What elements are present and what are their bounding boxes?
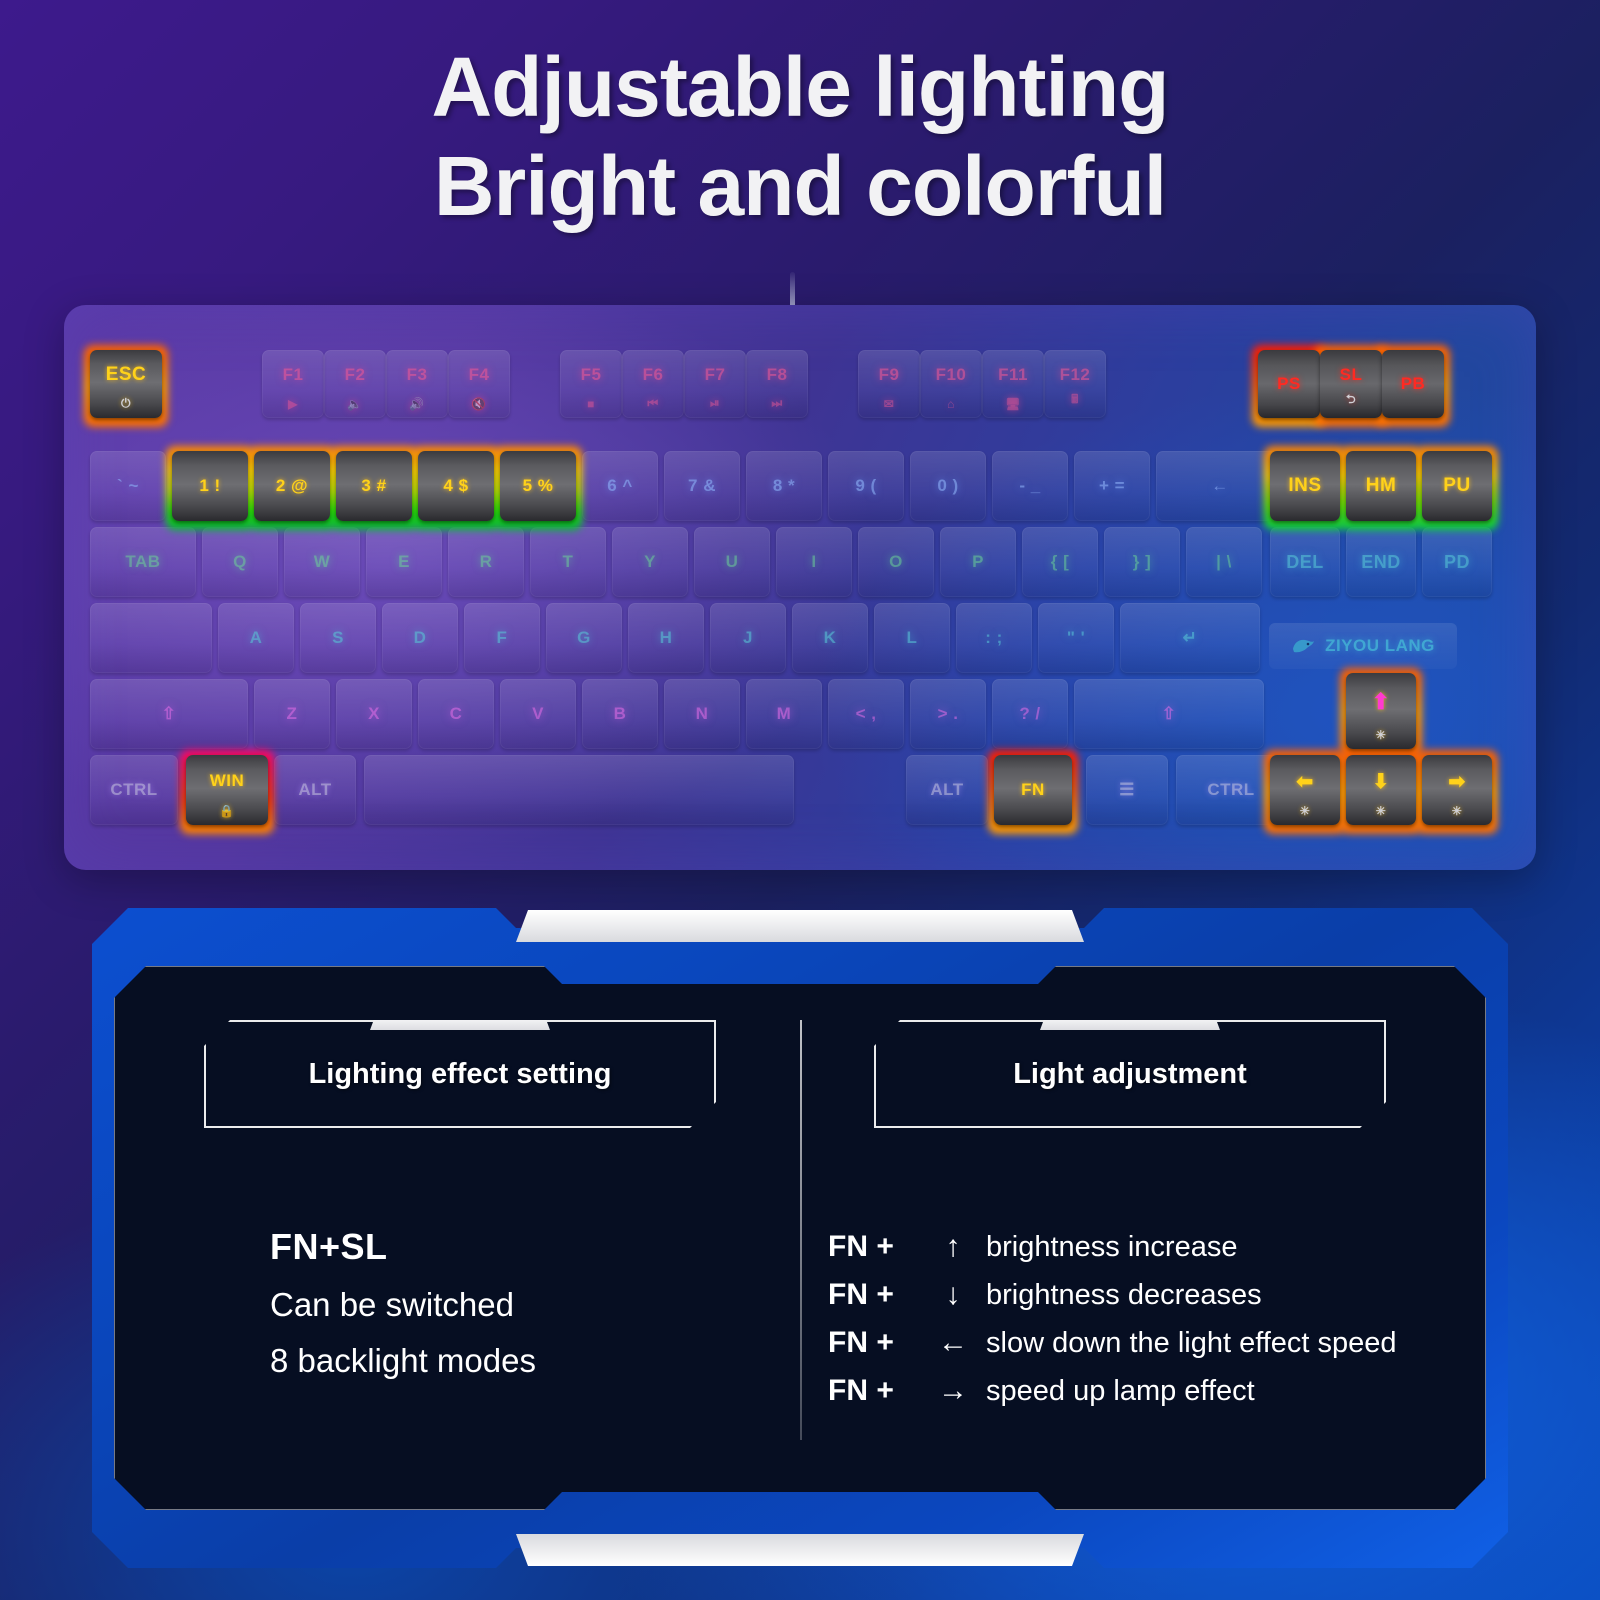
key-i[interactable]: I <box>776 527 852 597</box>
key-sl[interactable]: SL⮌ <box>1320 350 1382 418</box>
key-label: < , <box>856 704 877 724</box>
key-[interactable] <box>90 603 212 673</box>
key-[interactable]: + = <box>1074 451 1150 521</box>
shortcut-description: slow down the light effect speed <box>986 1327 1397 1360</box>
key-label: 2 @ <box>276 476 308 496</box>
key-r[interactable]: R <box>448 527 524 597</box>
info-panel-top-tab <box>516 910 1084 942</box>
light-adjustment-header: Light adjustment <box>874 1020 1386 1128</box>
key-label: 6 ^ <box>607 476 633 496</box>
key-label: L <box>907 628 918 648</box>
key-[interactable]: } ] <box>1104 527 1180 597</box>
key-label: 0 ) <box>937 476 958 496</box>
calculator-icon: 🖩 <box>1071 390 1079 411</box>
key-v[interactable]: V <box>500 679 576 749</box>
key-2[interactable]: 2 @ <box>254 451 330 521</box>
key-[interactable]: ` ~ <box>90 451 166 521</box>
key-label: F5 <box>581 365 602 385</box>
key-j[interactable]: J <box>710 603 786 673</box>
key-label: TAB <box>125 552 160 572</box>
page-title: Adjustable lighting Bright and colorful <box>0 42 1600 231</box>
key-[interactable] <box>364 755 794 825</box>
key-label: R <box>480 552 493 572</box>
menu-icon[interactable]: ☰ <box>1086 755 1168 825</box>
key-label: 9 ( <box>855 476 876 496</box>
lighting-effect-line-2: 8 backlight modes <box>270 1342 790 1380</box>
shortcut-row: FN +→speed up lamp effect <box>828 1374 1478 1408</box>
key-n[interactable]: N <box>664 679 740 749</box>
key-label: F8 <box>767 365 788 385</box>
brightness-icon: ✳ <box>1376 728 1387 742</box>
key-label: + = <box>1099 476 1125 496</box>
key-label: FN <box>1021 780 1045 800</box>
key-label: DEL <box>1286 552 1324 573</box>
key-label: C <box>450 704 463 724</box>
mute-icon: 🔇 <box>471 397 486 411</box>
key-label: - _ <box>1019 476 1040 496</box>
key-f7[interactable]: F7⏯ <box>684 350 746 418</box>
key-label: ` ~ <box>117 476 139 496</box>
key-label: ⬆ <box>1372 689 1391 715</box>
key-f6[interactable]: F6⏮ <box>622 350 684 418</box>
play-icon: ▶ <box>288 397 298 411</box>
key-label: J <box>743 628 753 648</box>
fn-sl-combo: FN+SL <box>270 1226 790 1268</box>
power-icon: ⏻ <box>121 396 131 411</box>
key-3[interactable]: 3 # <box>336 451 412 521</box>
key-label: K <box>824 628 837 648</box>
key-label: F3 <box>407 365 428 385</box>
key-p[interactable]: P <box>940 527 1016 597</box>
key-[interactable]: - _ <box>992 451 1068 521</box>
key-label: INS <box>1288 475 1321 497</box>
key-ps[interactable]: PS <box>1258 350 1320 418</box>
key-label: F4 <box>469 365 490 385</box>
key-label: X <box>368 704 380 724</box>
shortcut-row: FN +↑brightness increase <box>828 1230 1478 1264</box>
lighting-effect-setting-header: Lighting effect setting <box>204 1020 716 1128</box>
key-[interactable]: ⇧ <box>90 679 248 749</box>
lighting-effect-line-1: Can be switched <box>270 1286 790 1324</box>
key-label: F7 <box>705 365 726 385</box>
key-label: 3 # <box>361 476 386 496</box>
key-esc[interactable]: ESC⏻ <box>90 350 162 418</box>
light-adjustment-shortcut-list: FN +↑brightness increaseFN +↓brightness … <box>828 1230 1478 1422</box>
key-l[interactable]: L <box>874 603 950 673</box>
lock-icon: 🔒 <box>219 804 234 818</box>
key-label: ⇧ <box>162 704 177 724</box>
key-label: S <box>332 628 344 648</box>
shortcut-key: FN + <box>828 1230 920 1264</box>
key-label: CTRL <box>1207 780 1254 800</box>
shortcut-key: FN + <box>828 1326 920 1360</box>
scroll-lock-icon: ⮌ <box>1346 390 1356 411</box>
key-8[interactable]: 8 * <box>746 451 822 521</box>
shortcut-arrow-icon: ↓ <box>920 1278 986 1312</box>
key-label: F10 <box>936 365 967 385</box>
brightness-icon: ✳ <box>1452 804 1463 818</box>
right-arrow-icon[interactable]: ➡✳ <box>1422 755 1492 825</box>
key-win[interactable]: WIN🔒 <box>186 755 268 825</box>
key-label: Y <box>644 552 656 572</box>
key-label: F11 <box>998 365 1028 385</box>
key-[interactable]: : ; <box>956 603 1032 673</box>
lighting-effect-setting-title: Lighting effect setting <box>309 1058 612 1091</box>
key-t[interactable]: T <box>530 527 606 597</box>
key-del[interactable]: DEL <box>1270 527 1340 597</box>
shortcut-description: brightness increase <box>986 1231 1237 1264</box>
key-0[interactable]: 0 ) <box>910 451 986 521</box>
key-s[interactable]: S <box>300 603 376 673</box>
key-label: 4 $ <box>443 476 468 496</box>
home-icon: ⌂ <box>947 397 955 411</box>
brightness-icon: ✳ <box>1376 804 1387 818</box>
shortcut-arrow-icon: ← <box>920 1326 986 1360</box>
keyboard-cable <box>790 272 795 308</box>
key-k[interactable]: K <box>792 603 868 673</box>
key-label: B <box>614 704 627 724</box>
key-f2[interactable]: F2🔈 <box>324 350 386 418</box>
light-adjustment-title: Light adjustment <box>1013 1058 1247 1091</box>
volume-down-icon: 🔈 <box>347 397 362 411</box>
key-label: ALT <box>298 780 331 800</box>
lighting-effect-setting-body: FN+SL Can be switched 8 backlight modes <box>270 1226 790 1380</box>
key-label: 1 ! <box>199 476 220 496</box>
key-f5[interactable]: F5■ <box>560 350 622 418</box>
key-label: | \ <box>1216 552 1232 572</box>
key-label: F9 <box>879 365 900 385</box>
shortcut-arrow-icon: → <box>920 1374 986 1408</box>
key-label: 5 % <box>523 476 554 496</box>
key-7[interactable]: 7 & <box>664 451 740 521</box>
key-[interactable]: { [ <box>1022 527 1098 597</box>
key-z[interactable]: Z <box>254 679 330 749</box>
key-hm[interactable]: HM <box>1346 451 1416 521</box>
key-label: : ; <box>985 628 1003 648</box>
key-label: F2 <box>345 365 366 385</box>
key-label: ➡ <box>1448 769 1465 794</box>
key-label: PU <box>1443 475 1470 497</box>
key-[interactable]: ↵ <box>1120 603 1260 673</box>
key-6[interactable]: 6 ^ <box>582 451 658 521</box>
key-label: ALT <box>930 780 963 800</box>
key-[interactable]: " ' <box>1038 603 1114 673</box>
key-label: M <box>777 704 792 724</box>
key-label: H <box>660 628 673 648</box>
key-f10[interactable]: F10⌂ <box>920 350 982 418</box>
key-label: PS <box>1277 374 1301 394</box>
key-w[interactable]: W <box>284 527 360 597</box>
key-label: 8 * <box>773 476 795 496</box>
keyboard-image: ESC⏻F1▶F2🔈F3🔊F4🔇F5■F6⏮F7⏯F8⏭F9✉F10⌂F11🖥F… <box>64 305 1536 870</box>
key-h[interactable]: H <box>628 603 704 673</box>
key-[interactable]: ? / <box>992 679 1068 749</box>
key-label: G <box>577 628 591 648</box>
key-label: ⇧ <box>1162 704 1177 724</box>
brand-logo: ZIYOU LANG <box>1269 623 1457 669</box>
key-label: Z <box>287 704 298 724</box>
key-[interactable]: ⇧ <box>1074 679 1264 749</box>
previous-track-icon: ⏮ <box>647 396 658 411</box>
key-[interactable]: | \ <box>1186 527 1262 597</box>
key-label: ESC <box>106 364 147 386</box>
key-label: } ] <box>1133 552 1152 572</box>
key-[interactable]: > . <box>910 679 986 749</box>
key-pb[interactable]: PB <box>1382 350 1444 418</box>
key-tab[interactable]: TAB <box>90 527 196 597</box>
key-u[interactable]: U <box>694 527 770 597</box>
key-label: ? / <box>1019 704 1040 724</box>
key-f8[interactable]: F8⏭ <box>746 350 808 418</box>
key-f12[interactable]: F12🖩 <box>1044 350 1106 418</box>
key-label: F <box>497 628 508 648</box>
play-pause-icon: ⏯ <box>710 396 720 411</box>
key-[interactable]: < , <box>828 679 904 749</box>
key-label: WIN <box>210 771 245 791</box>
key-label: ← <box>1211 476 1229 496</box>
key-label: D <box>414 628 427 648</box>
info-panel-divider <box>800 1020 802 1440</box>
key-y[interactable]: Y <box>612 527 688 597</box>
brightness-icon: ✳ <box>1300 804 1311 818</box>
key-label: E <box>398 552 410 572</box>
down-arrow-icon[interactable]: ⬇✳ <box>1346 755 1416 825</box>
key-label: " ' <box>1067 628 1085 648</box>
key-label: { [ <box>1051 552 1070 572</box>
key-alt[interactable]: ALT <box>906 755 988 825</box>
key-o[interactable]: O <box>858 527 934 597</box>
key-fn[interactable]: FN <box>994 755 1072 825</box>
key-f4[interactable]: F4🔇 <box>448 350 510 418</box>
key-label: ⬇ <box>1372 769 1389 794</box>
key-label: P <box>972 552 984 572</box>
key-label: O <box>889 552 903 572</box>
key-label: PD <box>1444 552 1470 573</box>
shortcut-key: FN + <box>828 1374 920 1408</box>
left-arrow-icon[interactable]: ⬅✳ <box>1270 755 1340 825</box>
key-label: I <box>811 552 816 572</box>
key-label: PB <box>1401 374 1426 394</box>
key-c[interactable]: C <box>418 679 494 749</box>
key-label: A <box>250 628 263 648</box>
shortcut-arrow-icon: ↑ <box>920 1230 986 1264</box>
key-label: SL <box>1340 365 1363 385</box>
shortcut-key: FN + <box>828 1278 920 1312</box>
key-f[interactable]: F <box>464 603 540 673</box>
key-label: CTRL <box>110 780 157 800</box>
key-5[interactable]: 5 % <box>500 451 576 521</box>
key-4[interactable]: 4 $ <box>418 451 494 521</box>
key-1[interactable]: 1 ! <box>172 451 248 521</box>
key-label: ↵ <box>1183 628 1198 648</box>
key-d[interactable]: D <box>382 603 458 673</box>
key-q[interactable]: Q <box>202 527 278 597</box>
key-m[interactable]: M <box>746 679 822 749</box>
key-a[interactable]: A <box>218 603 294 673</box>
key-g[interactable]: G <box>546 603 622 673</box>
key-label: > . <box>938 704 959 724</box>
key-label: 7 & <box>688 476 716 496</box>
key-label: F12 <box>1060 365 1091 385</box>
info-panel: Lighting effect setting Light adjustment… <box>92 908 1508 1568</box>
key-label: HM <box>1366 475 1397 497</box>
volume-up-icon: 🔊 <box>409 397 424 411</box>
key-label: U <box>726 552 739 572</box>
shortcut-row: FN +←slow down the light effect speed <box>828 1326 1478 1360</box>
info-panel-bottom-tab <box>516 1534 1084 1566</box>
key-label: END <box>1361 552 1401 573</box>
key-label: F1 <box>283 365 304 385</box>
key-alt[interactable]: ALT <box>274 755 356 825</box>
key-label: ☰ <box>1119 780 1135 800</box>
key-label: Q <box>233 552 247 572</box>
key-label: ⬅ <box>1296 769 1313 794</box>
key-label: V <box>532 704 544 724</box>
key-x[interactable]: X <box>336 679 412 749</box>
key-label: N <box>696 704 709 724</box>
stop-icon: ■ <box>587 397 595 411</box>
key-label: T <box>563 552 574 572</box>
key-pd[interactable]: PD <box>1422 527 1492 597</box>
key-label: W <box>314 552 331 572</box>
brand-logo-text: ZIYOU LANG <box>1325 636 1435 656</box>
key-ins[interactable]: INS <box>1270 451 1340 521</box>
wolf-icon <box>1291 636 1317 656</box>
key-f11[interactable]: F11🖥 <box>982 350 1044 418</box>
headline-line-2: Bright and colorful <box>0 141 1600 232</box>
key-pu[interactable]: PU <box>1422 451 1492 521</box>
key-e[interactable]: E <box>366 527 442 597</box>
key-ctrl[interactable]: CTRL <box>90 755 178 825</box>
mail-icon: ✉ <box>884 397 895 411</box>
computer-icon: 🖥 <box>1005 397 1021 411</box>
keyboard-keys-layer: ESC⏻F1▶F2🔈F3🔊F4🔇F5■F6⏮F7⏯F8⏭F9✉F10⌂F11🖥F… <box>64 305 1536 870</box>
key-label: F6 <box>643 365 664 385</box>
headline-line-1: Adjustable lighting <box>0 42 1600 133</box>
key-9[interactable]: 9 ( <box>828 451 904 521</box>
key-end[interactable]: END <box>1346 527 1416 597</box>
key-f3[interactable]: F3🔊 <box>386 350 448 418</box>
key-f1[interactable]: F1▶ <box>262 350 324 418</box>
key-f9[interactable]: F9✉ <box>858 350 920 418</box>
shortcut-description: speed up lamp effect <box>986 1375 1255 1408</box>
shortcut-description: brightness decreases <box>986 1279 1262 1312</box>
key-b[interactable]: B <box>582 679 658 749</box>
shortcut-row: FN +↓brightness decreases <box>828 1278 1478 1312</box>
up-arrow-icon[interactable]: ⬆✳ <box>1346 673 1416 749</box>
next-track-icon: ⏭ <box>771 396 782 411</box>
